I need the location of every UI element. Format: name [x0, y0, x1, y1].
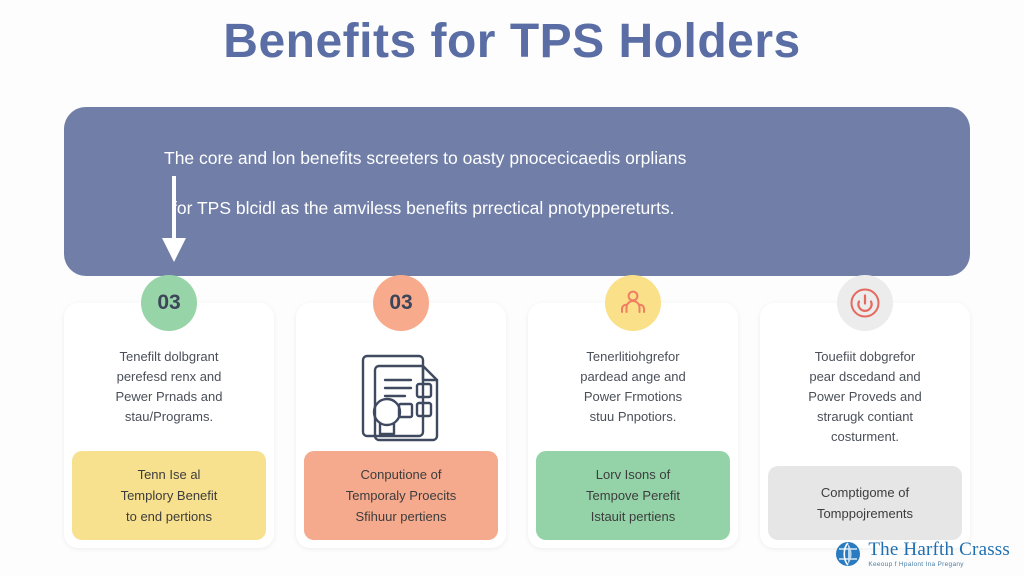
card-1-footer[interactable]: Tenn Ise al Templory Benefit to end pert…	[72, 451, 266, 540]
document-certificate-icon	[347, 340, 455, 448]
card-2-footer-line: Conputione of	[312, 464, 490, 485]
card-1-body-line: stau/Programs.	[125, 407, 213, 427]
card-3-footer[interactable]: Lorv Isons of Tempove Perefit Istauit pe…	[536, 451, 730, 540]
card-1-body-line: Pewer Prnads and	[116, 387, 223, 407]
card-2-footer[interactable]: Conputione of Temporaly Proecits Sfihuur…	[304, 451, 498, 540]
benefit-card-4[interactable]: Touefiit dobgrefor pear dscedand and Pow…	[760, 303, 970, 548]
page-title: Benefits for TPS Holders	[0, 14, 1024, 69]
card-4-footer-line: Comptigome of	[776, 482, 954, 503]
card-4-body-line: pear dscedand and	[809, 367, 920, 387]
card-3-badge	[605, 275, 661, 331]
card-2-badge: 03	[373, 275, 429, 331]
cards-row: 03 Tenefilt dolbgrant perefesd renx and …	[64, 303, 970, 548]
card-3-body-line: pardead ange and	[580, 367, 686, 387]
intro-banner: The core and lon benefits screeters to o…	[64, 107, 970, 276]
logo-text-block: The Harfth Crasss Keeoup f Hpalont Ina P…	[868, 540, 1010, 569]
card-4-badge	[837, 275, 893, 331]
benefit-card-2[interactable]: 03 Conputione of	[296, 303, 506, 548]
card-3-footer-line: Tempove Perefit	[544, 485, 722, 506]
card-1-badge: 03	[141, 275, 197, 331]
power-button-icon	[848, 286, 882, 320]
logo-name: The Harfth Crasss	[868, 540, 1010, 559]
card-3-body-line: stuu Pnpotiors.	[590, 407, 677, 427]
card-4-footer-line: Tomppojrements	[776, 503, 954, 524]
card-4-body-line: strarugk contiant	[817, 407, 913, 427]
card-2-badge-label: 03	[389, 291, 412, 315]
card-1-footer-line: Templory Benefit	[80, 485, 258, 506]
card-1-footer-line: to end pertions	[80, 506, 258, 527]
brand-logo[interactable]: The Harfth Crasss Keeoup f Hpalont Ina P…	[835, 540, 1010, 569]
card-3-footer-line: Lorv Isons of	[544, 464, 722, 485]
logo-tagline: Keeoup f Hpalont Ina Pregany	[868, 562, 1010, 569]
banner-line-1: The core and lon benefits screeters to o…	[164, 133, 930, 183]
benefit-card-3[interactable]: Tenerlitiohgrefor pardead ange and Power…	[528, 303, 738, 548]
card-4-body-line: costurment.	[831, 427, 899, 447]
card-4-body-line: Touefiit dobgrefor	[815, 347, 915, 367]
card-3-body-line: Tenerlitiohgrefor	[586, 347, 679, 367]
card-3-footer-line: Istauit pertiens	[544, 506, 722, 527]
card-3-body-line: Power Frmotions	[584, 387, 682, 407]
card-4-footer[interactable]: Comptigome of Tomppojrements	[768, 466, 962, 540]
card-1-badge-label: 03	[157, 291, 180, 315]
card-1-body-line: Tenefilt dolbgrant	[119, 347, 218, 367]
card-1-footer-line: Tenn Ise al	[80, 464, 258, 485]
card-2-footer-line: Sfihuur pertiens	[312, 506, 490, 527]
arrow-down-icon	[161, 176, 187, 264]
card-2-footer-line: Temporaly Proecits	[312, 485, 490, 506]
benefit-card-1[interactable]: 03 Tenefilt dolbgrant perefesd renx and …	[64, 303, 274, 548]
globe-logo-icon	[835, 541, 861, 567]
card-4-body-line: Power Proveds and	[808, 387, 921, 407]
banner-line-2: for TPS blcidl as the amviless benefits …	[164, 183, 930, 233]
card-1-body-line: perefesd renx and	[117, 367, 222, 387]
people-group-icon	[618, 288, 648, 318]
